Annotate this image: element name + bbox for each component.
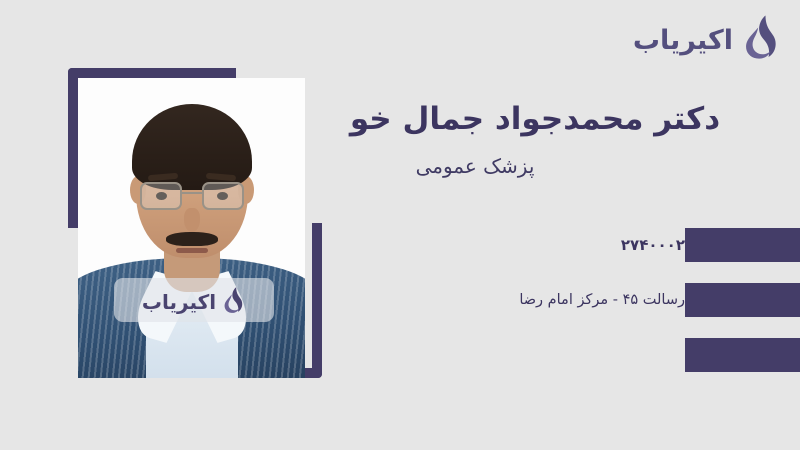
watermark-brand-name: اکیریاب [142, 292, 216, 312]
doctor-portrait-photo: اکیریاب [78, 78, 305, 378]
decorative-bar-row [685, 338, 800, 372]
photo-block: اکیریاب [60, 58, 335, 388]
doctor-profile-card: اکیریاب [0, 0, 800, 450]
portrait-moustache [166, 232, 218, 246]
portrait-mouth [176, 248, 208, 253]
photo-watermark: اکیریاب [114, 278, 274, 322]
portrait-nose [184, 208, 200, 232]
brand-name: اکیریاب [633, 27, 733, 54]
decorative-bar [685, 228, 800, 262]
doctor-address: رسالت ۴۵ - مرکز امام رضا [519, 292, 685, 308]
flame-leaf-icon [221, 286, 246, 314]
decorative-bar [685, 338, 800, 372]
doctor-code: ۲۷۴۰۰۰۲ [621, 236, 685, 254]
address-row: رسالت ۴۵ - مرکز امام رضا [505, 283, 800, 317]
flame-leaf-icon [740, 14, 782, 60]
code-row: ۲۷۴۰۰۰۲ [607, 228, 800, 262]
doctor-name: دکتر محمدجواد جمال خو [300, 100, 770, 140]
doctor-specialty: پزشک عمومی [240, 154, 710, 178]
doctor-info: دکتر محمدجواد جمال خو پزشک عمومی [300, 100, 770, 178]
brand-logo[interactable]: اکیریاب [633, 14, 782, 60]
decorative-bar [685, 283, 800, 317]
